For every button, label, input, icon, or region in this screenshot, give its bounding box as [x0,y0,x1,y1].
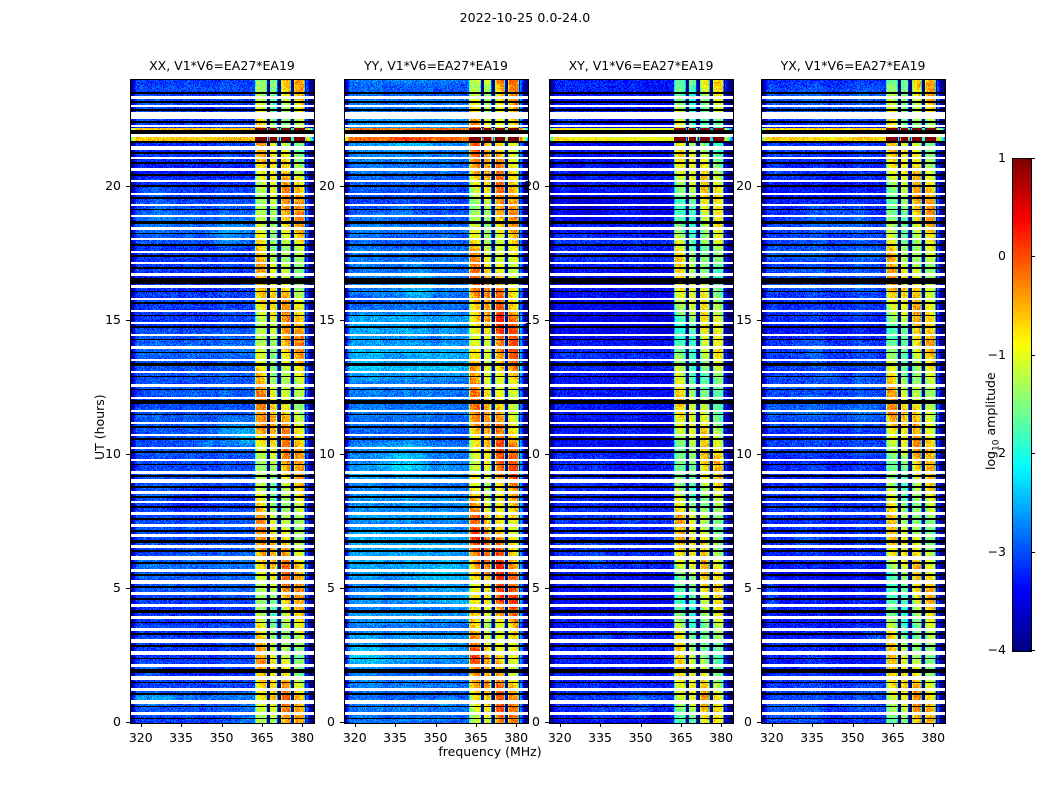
y-tick-label: 15 [88,312,121,327]
y-tickmark [757,454,761,455]
spectrum-panel-xy[interactable] [549,79,734,724]
colorbar-tickmark [1031,256,1035,257]
x-tick-label: 350 [619,730,663,745]
y-tickmark [757,722,761,723]
x-tickmark [853,723,854,727]
spectrum-image-yx [762,80,945,723]
x-axis-label: frequency (MHz) [380,744,600,759]
colorbar-gradient [1013,159,1031,651]
colorbar-tickmark [1031,158,1035,159]
x-tick-label: 380 [699,730,743,745]
x-tick-label: 380 [280,730,324,745]
dynamic-spectrum-figure: 2022-10-25 0.0-24.0 XX, V1*V6=EA27*EA19 … [0,0,1050,800]
x-tick-label: 365 [659,730,703,745]
x-tickmark [222,723,223,727]
x-tick-label: 335 [159,730,203,745]
y-tickmark [545,454,549,455]
x-tick-label: 320 [538,730,582,745]
y-tick-label: 0 [507,714,540,729]
y-tickmark [545,588,549,589]
colorbar-tick-label: −3 [972,544,1006,559]
x-tick-label: 365 [454,730,498,745]
x-tickmark [262,723,263,727]
colorbar-label-sub: 10 [992,439,1002,450]
colorbar-label-tail: amplitude [983,372,998,439]
y-tick-label: 20 [88,178,121,193]
x-tickmark [600,723,601,727]
y-tickmark [126,454,130,455]
spectrum-image-xx [131,80,314,723]
x-tickmark [476,723,477,727]
colorbar-tickmark [1031,453,1035,454]
x-tickmark [181,723,182,727]
x-tickmark [681,723,682,727]
panel-title-xx: XX, V1*V6=EA27*EA19 [130,58,314,73]
x-tickmark [355,723,356,727]
spectrum-image-xy [550,80,733,723]
y-tickmark [340,186,344,187]
spectrum-panel-xx[interactable] [130,79,315,724]
x-tickmark [560,723,561,727]
y-tick-label: 5 [88,580,121,595]
y-tick-label: 20 [507,178,540,193]
x-tickmark [893,723,894,727]
colorbar-tick-label: −4 [972,642,1006,657]
x-tick-label: 350 [414,730,458,745]
colorbar-label: log10 amplitude [983,372,1002,470]
colorbar-tickmark [1031,552,1035,553]
x-tick-label: 365 [871,730,915,745]
spectrum-image-yy [345,80,528,723]
x-tick-label: 335 [790,730,834,745]
colorbar-label-main: log [983,451,998,470]
colorbar-tickmark [1031,355,1035,356]
colorbar-tick-label: −1 [972,347,1006,362]
y-tick-label: 5 [507,580,540,595]
y-tick-label: 0 [302,714,335,729]
y-tickmark [545,722,549,723]
y-tick-label: 10 [719,446,752,461]
y-tick-label: 15 [719,312,752,327]
x-tick-label: 350 [200,730,244,745]
x-tick-label: 365 [240,730,284,745]
panel-title-yy: YY, V1*V6=EA27*EA19 [344,58,528,73]
x-tickmark [436,723,437,727]
y-tickmark [340,722,344,723]
x-tick-label: 320 [119,730,163,745]
y-tick-label: 0 [719,714,752,729]
y-tickmark [126,722,130,723]
y-tick-label: 20 [719,178,752,193]
x-tickmark [812,723,813,727]
y-tick-label: 0 [88,714,121,729]
y-tickmark [545,186,549,187]
x-tickmark [772,723,773,727]
figure-suptitle: 2022-10-25 0.0-24.0 [0,10,1050,25]
y-tickmark [340,320,344,321]
y-tickmark [757,588,761,589]
x-tick-label: 335 [373,730,417,745]
y-tickmark [340,588,344,589]
x-tick-label: 380 [911,730,955,745]
y-tickmark [340,454,344,455]
y-tickmark [757,320,761,321]
y-tick-label: 15 [507,312,540,327]
x-tickmark [933,723,934,727]
y-tickmark [126,320,130,321]
y-tickmark [126,186,130,187]
y-tick-label: 5 [302,580,335,595]
colorbar[interactable] [1012,158,1032,652]
spectrum-panel-yx[interactable] [761,79,946,724]
colorbar-tick-label: 1 [972,150,1006,165]
panel-title-xy: XY, V1*V6=EA27*EA19 [549,58,733,73]
colorbar-tickmark [1031,650,1035,651]
y-tickmark [545,320,549,321]
x-tickmark [395,723,396,727]
x-tickmark [641,723,642,727]
y-tick-label: 5 [719,580,752,595]
y-tickmark [757,186,761,187]
y-tick-label: 10 [507,446,540,461]
panel-title-yx: YX, V1*V6=EA27*EA19 [761,58,945,73]
y-tick-label: 20 [302,178,335,193]
x-tick-label: 350 [831,730,875,745]
x-tick-label: 320 [750,730,794,745]
colorbar-tick-label: 0 [972,248,1006,263]
y-tick-label: 15 [302,312,335,327]
spectrum-panel-yy[interactable] [344,79,529,724]
x-tick-label: 335 [578,730,622,745]
y-axis-label: UT (hours) [92,394,107,460]
y-tick-label: 10 [302,446,335,461]
x-tick-label: 320 [333,730,377,745]
y-tickmark [126,588,130,589]
x-tickmark [141,723,142,727]
x-tick-label: 380 [494,730,538,745]
